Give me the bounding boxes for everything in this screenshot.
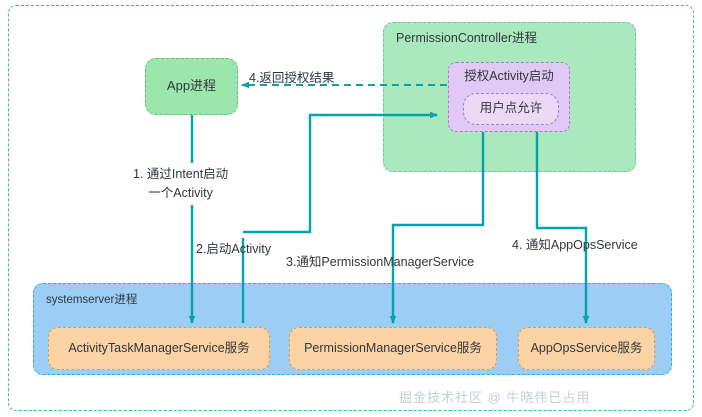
node-activity-task-manager-service[interactable]: ActivityTaskManagerService服务 — [48, 327, 270, 370]
node-user-allow-label: 用户点允许 — [480, 101, 543, 117]
node-grant-activity[interactable]: 授权Activity启动 用户点允许 — [448, 62, 570, 132]
node-user-allow[interactable]: 用户点允许 — [463, 93, 559, 125]
node-activity-task-manager-service-label: ActivityTaskManagerService服务 — [68, 341, 249, 357]
edge-label-step4-notify: 4. 通知AppOpsService — [512, 236, 638, 255]
edge-label-step1-line2: 一个Activity — [133, 184, 228, 203]
edge-label-step3: 3.通知PermissionManagerService — [286, 253, 474, 272]
node-app-process-label: App进程 — [167, 78, 216, 94]
watermark: 掘金技术社区 @ 牛晓伟已占用 — [399, 387, 590, 406]
node-app-process[interactable]: App进程 — [145, 58, 238, 115]
node-permission-manager-service-label: PermissionManagerService服务 — [304, 341, 482, 357]
diagram-canvas: PermissionController进程 systemserver进程 — [0, 0, 702, 417]
node-grant-activity-label: 授权Activity启动 — [449, 69, 569, 85]
group-permission-controller-label: PermissionController进程 — [396, 31, 537, 47]
edge-label-step1-line1: 1. 通过Intent启动 — [133, 165, 228, 184]
edge-label-step1: 1. 通过Intent启动 一个Activity — [133, 165, 228, 203]
group-systemserver-label: systemserver进程 — [46, 293, 137, 307]
edge-label-step4-return: 4.返回授权结果 — [249, 69, 334, 88]
edge-label-step2: 2.启动Activity — [196, 240, 271, 259]
node-permission-manager-service[interactable]: PermissionManagerService服务 — [289, 327, 497, 370]
node-app-ops-service-label: AppOpsService服务 — [531, 341, 643, 357]
node-app-ops-service[interactable]: AppOpsService服务 — [518, 327, 655, 370]
